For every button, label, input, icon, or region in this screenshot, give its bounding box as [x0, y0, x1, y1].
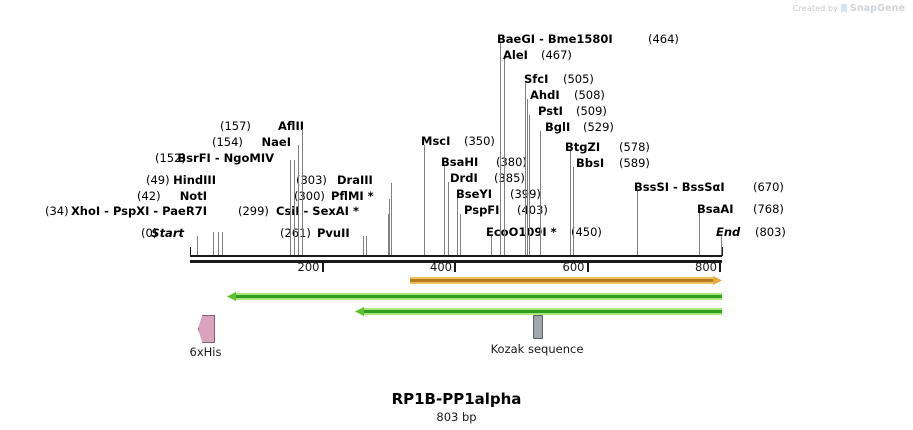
site-label-row-end[interactable]: End [716, 226, 740, 239]
site-label-row-ahdi[interactable]: AhdI [530, 89, 560, 102]
ruler-tick-label: 600 [543, 260, 585, 274]
site-position-row-bsssi: (670) [753, 181, 784, 194]
leader-line [699, 213, 700, 256]
ruler-tick-label: 800 [675, 260, 717, 274]
site-position-row-msci: (350) [464, 135, 495, 148]
leader-line [573, 167, 574, 256]
ruler-tick-label: 400 [410, 260, 452, 274]
site-position-row-naei: (154) [212, 136, 243, 149]
site-label-row-pspfi[interactable]: PspFI [464, 204, 499, 217]
credit-brand: SnapGene [850, 3, 905, 14]
site-position-row-alei: (467) [541, 49, 572, 62]
green-feature-arrow-2-arrowhead-icon [355, 307, 364, 316]
green-feature-arrow-2-shaft [363, 308, 722, 315]
backbone-right-cap [722, 247, 723, 256]
snapgene-credit: Created by SnapGene [793, 3, 905, 14]
leader-line [197, 236, 198, 256]
backbone-top-strand [190, 255, 722, 257]
site-label-row-aflii[interactable]: AflII [278, 120, 304, 133]
site-position-row-sfci: (505) [563, 73, 594, 86]
leader-line [389, 199, 390, 256]
leader-line [294, 160, 295, 256]
site-position-row-psti: (509) [576, 105, 607, 118]
site-label-row-drdi[interactable]: DrdI [450, 172, 478, 185]
site-label-row-bgli[interactable]: BglI [545, 121, 570, 134]
site-position-row-bgli: (529) [583, 121, 614, 134]
site-position-row-drdi: (385) [494, 172, 525, 185]
leader-line [637, 191, 638, 256]
site-label-row-pvuii[interactable]: PvuII [317, 227, 350, 240]
orange-cds-arrow-arrowhead-icon [713, 276, 722, 285]
site-label-row-baegi[interactable]: BaeGI - Bme1580I [497, 33, 613, 46]
leader-line [218, 232, 219, 256]
site-label-row-bseyi[interactable]: BseYI [456, 188, 492, 201]
sequence-length: 803 bp [0, 410, 913, 424]
orange-cds-arrow[interactable] [410, 276, 722, 285]
backbone-left-cap [190, 247, 191, 256]
green-feature-arrow-1[interactable] [227, 292, 722, 301]
leader-line [570, 151, 571, 256]
site-label-row-bsssi[interactable]: BssSI - BssSαI [634, 181, 725, 194]
site-label-row-ecoo[interactable]: EcoO109I * [486, 226, 557, 239]
kozak-label: Kozak sequence [463, 342, 611, 356]
leader-line [222, 232, 223, 256]
site-position-row-pvuii: (261) [280, 227, 311, 240]
site-label-row-msci[interactable]: MscI [421, 135, 450, 148]
leader-line [298, 145, 299, 256]
leader-line [460, 214, 461, 256]
snapgene-logo-icon [841, 4, 847, 14]
leader-line [213, 232, 214, 256]
page-title: RP1B-PP1alpha [0, 390, 913, 408]
snapgene-linear-map: Created by SnapGene (464)BaeGI - Bme1580… [0, 0, 913, 430]
site-label-row-naei[interactable]: NaeI [262, 136, 291, 149]
leader-line [540, 131, 541, 256]
site-label-row-hindiii[interactable]: HindIII [173, 174, 216, 187]
leader-line [525, 83, 526, 256]
site-position-row-bsaai: (768) [753, 203, 784, 216]
ruler-tick [322, 263, 324, 272]
site-label-row-alei[interactable]: AleI [503, 49, 528, 62]
site-label-row-draiii[interactable]: DraIII [337, 174, 373, 187]
leader-line [500, 43, 501, 256]
site-position-row-aflii: (157) [220, 120, 251, 133]
leader-line [424, 145, 425, 256]
green-feature-arrow-1-shaft [235, 293, 722, 300]
site-position-row-bbsi: (589) [619, 157, 650, 170]
green-feature-arrow-1-arrowhead-icon [227, 292, 236, 301]
backbone-bottom-strand [190, 260, 722, 263]
leader-line [302, 129, 303, 256]
site-position-row-csii: (299) [238, 205, 269, 218]
site-label-row-csii[interactable]: CsiI - SexAI * [276, 205, 359, 218]
leader-line [290, 160, 291, 256]
site-position-row-ecoo: (450) [571, 226, 602, 239]
site-position-row-draiii: (303) [296, 174, 327, 187]
ruler-tick [587, 263, 589, 272]
leader-line [448, 182, 449, 256]
site-position-row-hindiii: (49) [146, 174, 170, 187]
site-label-row-bsaai[interactable]: BsaAI [697, 203, 734, 216]
leader-line [366, 236, 367, 256]
site-position-row-end: (803) [755, 226, 786, 239]
orange-cds-arrow-shaft [410, 277, 714, 284]
kozak-shape [533, 315, 543, 339]
leader-line [504, 59, 505, 256]
ruler-tick [719, 263, 721, 272]
site-position-row-xhoi: (34) [45, 205, 69, 218]
leader-line [529, 115, 530, 256]
site-label-row-bsahi[interactable]: BsaHI [441, 156, 478, 169]
site-position-row-baegi: (464) [648, 33, 679, 46]
site-position-row-noti: (42) [137, 190, 161, 203]
leader-line [363, 236, 364, 256]
site-label-row-pflmi[interactable]: PflMI * [331, 190, 374, 203]
site-label-row-xhoi[interactable]: XhoI - PspXI - PaeR7I [71, 205, 207, 218]
site-label-row-start[interactable]: Start [151, 227, 184, 240]
site-label-row-bbsi[interactable]: BbsI [576, 157, 604, 170]
site-label-row-psti[interactable]: PstI [538, 105, 563, 118]
map-title-block: RP1B-PP1alpha 803 bp [0, 390, 913, 424]
site-label-row-bsrfi[interactable]: BsrFI - NgoMIV [177, 152, 274, 165]
ruler-tick-label: 200 [278, 260, 320, 274]
credit-prefix: Created by [793, 4, 838, 13]
his-tag-label: 6xHis [128, 345, 283, 359]
leader-line [527, 99, 528, 256]
leader-line [491, 236, 492, 256]
ruler-tick [454, 263, 456, 272]
leader-line [457, 198, 458, 256]
leader-line [391, 183, 392, 256]
site-position-row-btgzi: (578) [619, 141, 650, 154]
his-tag-shape [198, 315, 215, 343]
leader-line [444, 166, 445, 256]
site-position-row-ahdi: (508) [574, 89, 605, 102]
site-label-row-sfci[interactable]: SfcI [524, 73, 548, 86]
site-label-row-noti[interactable]: NotI [180, 190, 207, 203]
site-position-row-pspfi: (403) [517, 204, 548, 217]
